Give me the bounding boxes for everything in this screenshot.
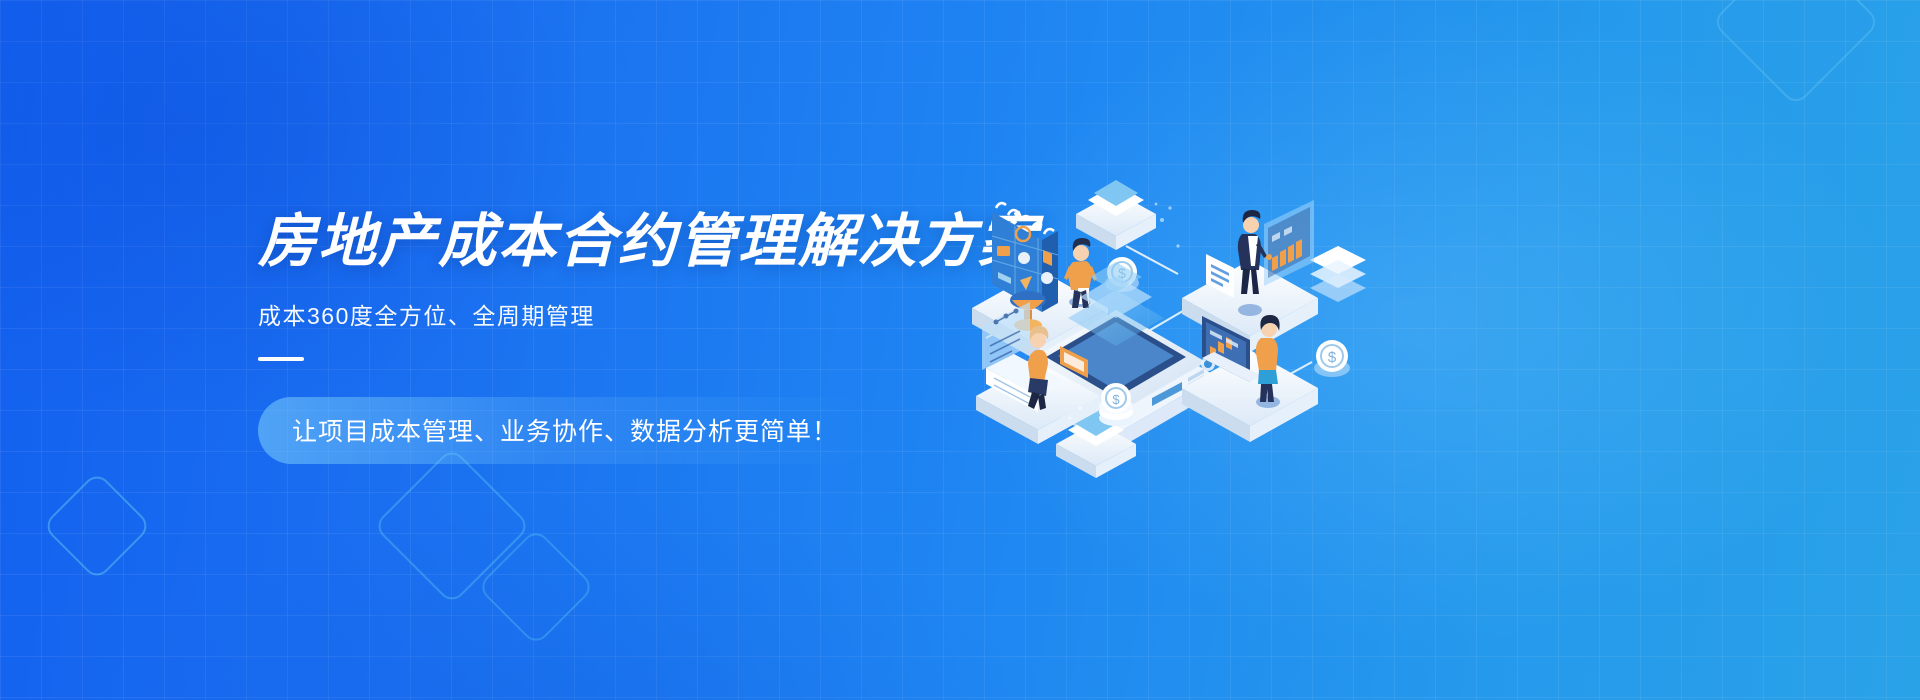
title-divider [258,357,304,361]
decorative-diamond-4 [1711,0,1881,107]
page-subtitle: 成本360度全方位、全周期管理 [258,297,1018,331]
svg-text:$: $ [1112,392,1120,407]
paper-stack-icon [1310,246,1366,302]
page-title: 房地产成本合约管理解决方案 [258,212,1018,273]
decorative-diamond-3 [477,528,596,647]
dollar-coin-icon-right: $ [1314,340,1350,377]
decorative-diamond-1 [42,471,152,581]
decorative-diamond-2 [373,447,531,605]
bar-chart-screen-icon [1264,200,1314,286]
isometric-illustration: $ [920,150,1390,450]
coin-stack-icon-left: $ [1099,383,1133,426]
hero-banner: 房地产成本合约管理解决方案 成本360度全方位、全周期管理 让项目成本管理、业务… [0,0,1920,700]
hero-copy-block: 房地产成本合约管理解决方案 成本360度全方位、全周期管理 让项目成本管理、业务… [258,212,1018,464]
tagline-pill: 让项目成本管理、业务协作、数据分析更简单！ [258,397,872,464]
svg-text:$: $ [1328,349,1337,366]
